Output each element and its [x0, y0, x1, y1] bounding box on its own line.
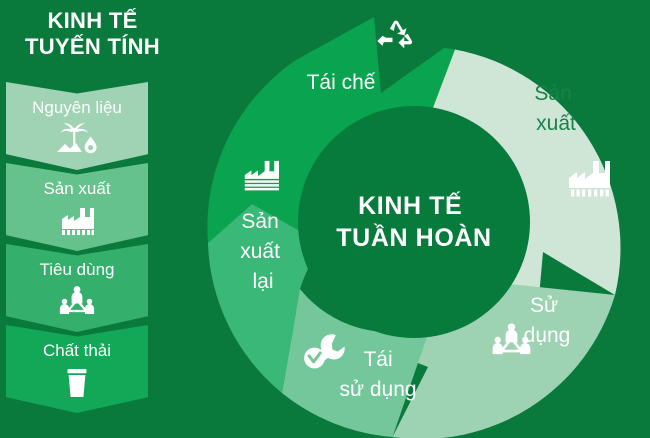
linear-title-line-1: KINH TẾ	[0, 8, 185, 34]
linear-step-label: Sản xuất	[43, 180, 110, 199]
linear-economy-title: KINH TẾ TUYẾN TÍNH	[0, 8, 185, 59]
center-title-line-1: KINH TẾ	[358, 191, 462, 220]
circular-segment-label-tai-che: Tái chế	[307, 71, 376, 94]
linear-step-label: Tiêu dùng	[40, 261, 115, 280]
factory-icon	[54, 203, 100, 237]
center-title-line-2: TUẦN HOÀN	[336, 223, 491, 252]
linear-economy-panel: KINH TẾ TUYẾN TÍNH Nguyên liệu	[0, 0, 185, 438]
recycle-icon	[377, 20, 412, 48]
linear-step-tieu-dung[interactable]: Tiêu dùng	[6, 244, 148, 332]
infographic-root: KINH TẾ TUYẾN TÍNH Nguyên liệu	[0, 0, 650, 438]
linear-steps-list: Nguyên liệu	[6, 82, 148, 406]
linear-title-line-2: TUYẾN TÍNH	[0, 34, 185, 60]
circular-economy-panel: KINH TẾ TUẦN HOÀN Tái chế Sản xuất	[178, 0, 650, 438]
palm-tree-oil-drop-icon	[54, 122, 100, 156]
people-group-icon	[54, 284, 100, 318]
circular-center-disc	[298, 106, 530, 338]
linear-step-chat-thai[interactable]: Chất thải	[6, 325, 148, 413]
linear-step-san-xuat[interactable]: Sản xuất	[6, 163, 148, 251]
trash-bin-icon	[54, 365, 100, 399]
linear-step-label: Nguyên liệu	[32, 99, 122, 118]
linear-step-label: Chất thải	[43, 342, 111, 361]
linear-step-nguyen-lieu[interactable]: Nguyên liệu	[6, 82, 148, 170]
